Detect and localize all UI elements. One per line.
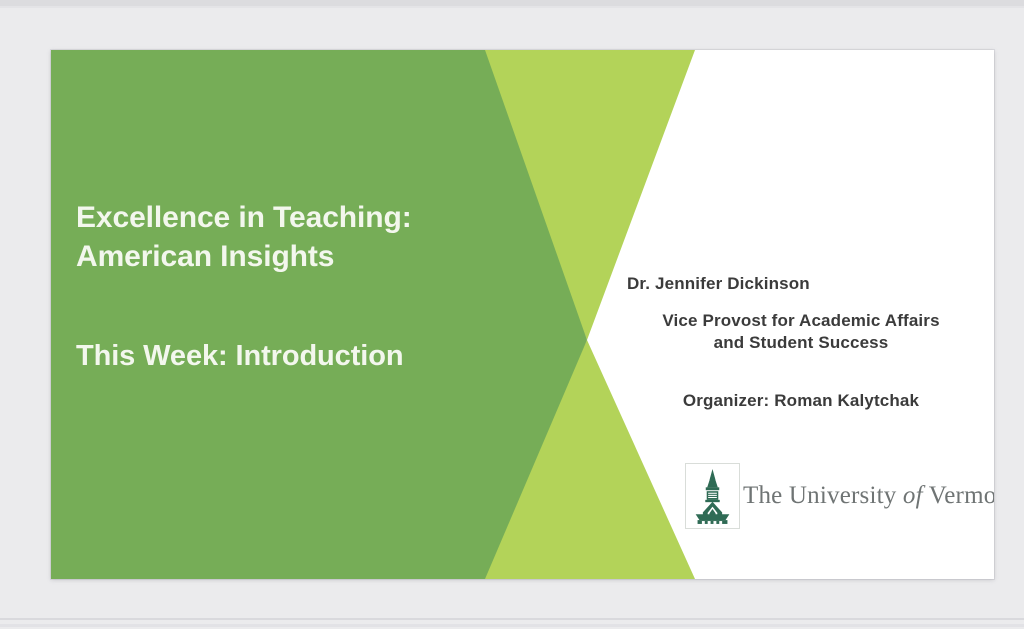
viewer-top-divider — [0, 6, 1024, 8]
speaker-role-line-2: and Student Success — [611, 333, 991, 354]
slide-viewer: Excellence in Teaching: American Insight… — [0, 0, 1024, 629]
title-line-1: Excellence in Teaching: — [76, 198, 506, 237]
presentation-slide[interactable]: Excellence in Teaching: American Insight… — [51, 50, 994, 579]
title-line-2: American Insights — [76, 237, 506, 276]
uvm-tower-icon — [685, 463, 740, 529]
slide-subtitle: This Week: Introduction — [76, 340, 506, 373]
university-wordmark: The University of Vermont — [743, 483, 994, 510]
viewer-bottom-divider-1 — [0, 618, 1024, 620]
uvm-tower-glyph — [686, 464, 739, 528]
slide-title-block: Excellence in Teaching: American Insight… — [76, 198, 506, 373]
wordmark-suffix: Vermont — [923, 482, 994, 509]
viewer-bottom-divider-2 — [0, 624, 1024, 627]
university-logo: The University of Vermont — [685, 463, 994, 529]
speaker-name: Dr. Jennifer Dickinson — [611, 274, 991, 295]
speaker-role-line-1: Vice Provost for Academic Affairs — [611, 311, 991, 332]
wordmark-prefix: The University — [743, 482, 903, 509]
wordmark-italic-of: of — [903, 482, 923, 509]
organizer-line: Organizer: Roman Kalytchak — [611, 391, 991, 411]
speaker-block: Dr. Jennifer Dickinson Vice Provost for … — [611, 274, 991, 411]
